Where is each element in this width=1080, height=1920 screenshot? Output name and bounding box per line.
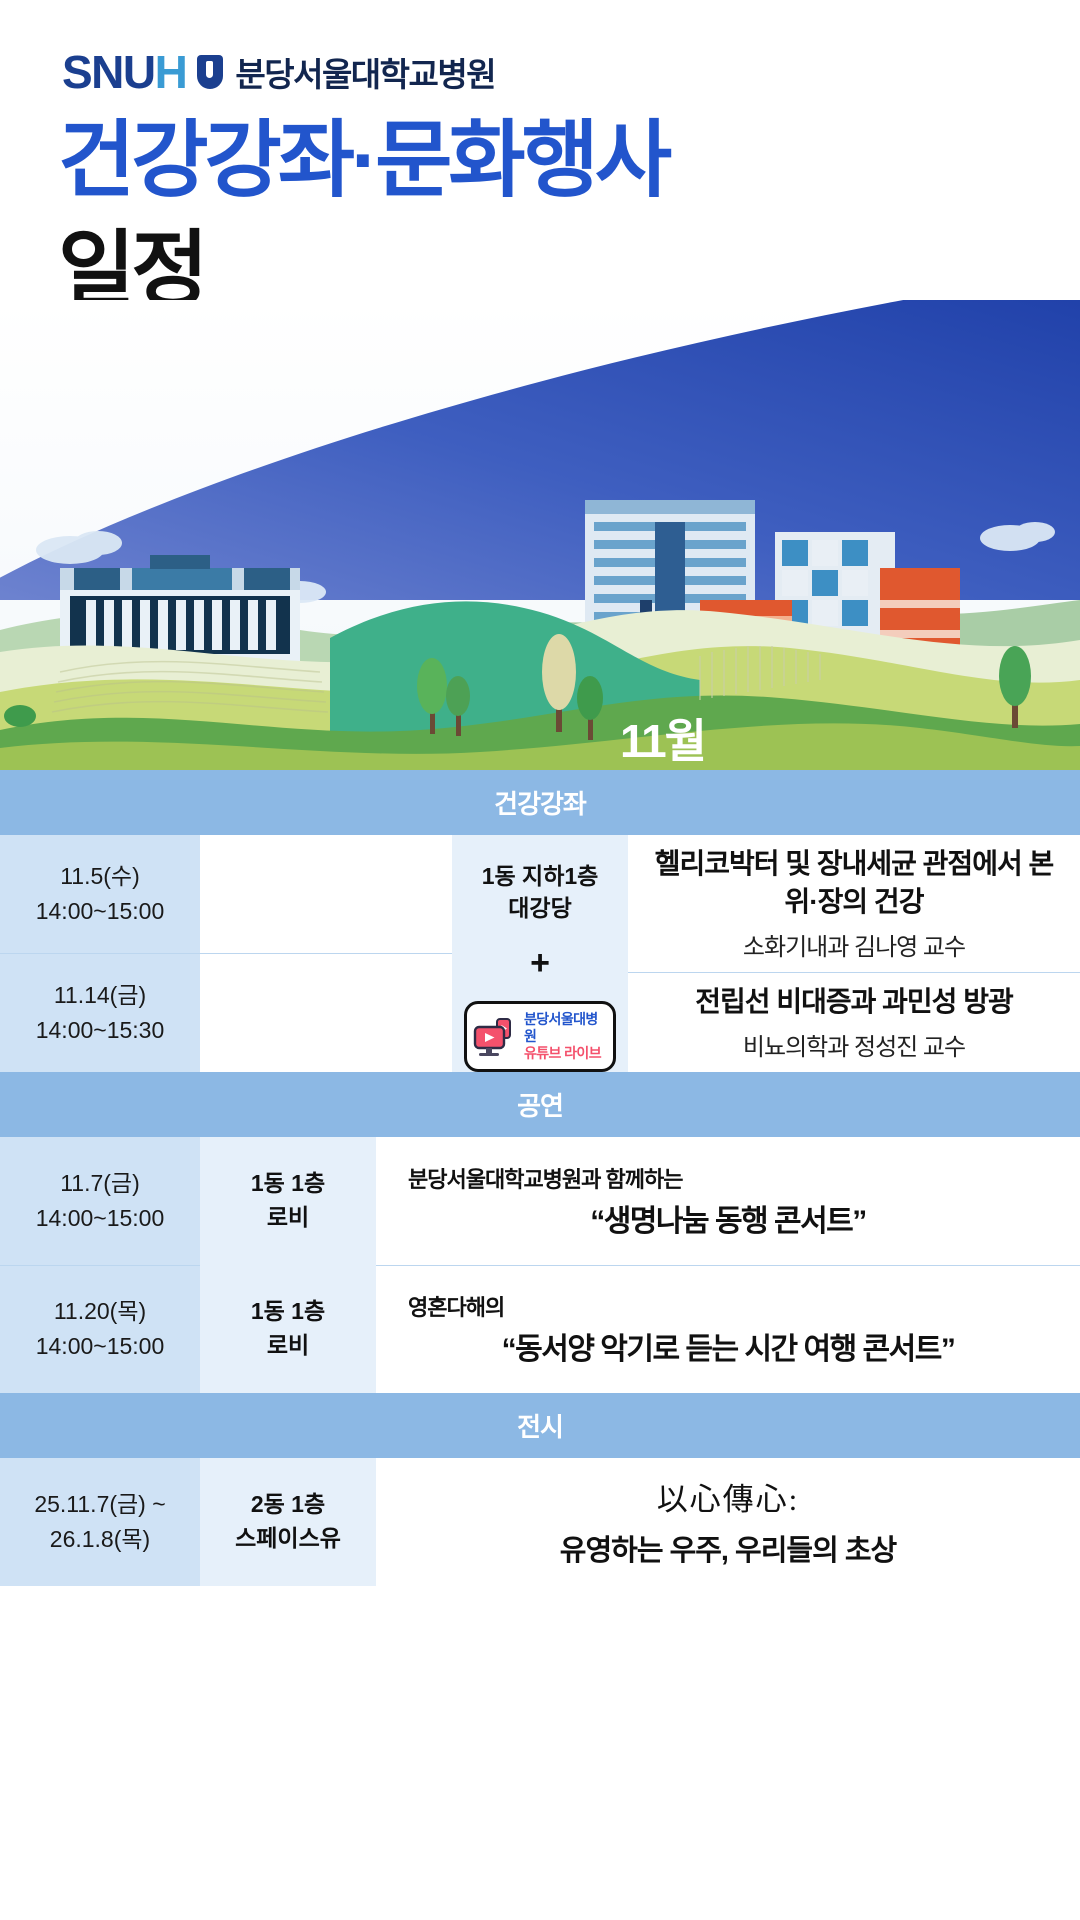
row-place: 1동 1층 로비 [200,1137,376,1265]
date-line-2: 26.1.8(목) [50,1524,150,1555]
row-title: 분당서울대학교병원과 함께하는 “생명나눔 동행 콘서트” [376,1137,1080,1265]
table-row: 11.14(금) 14:00~15:30 [0,953,452,1072]
date-line-1: 11.20(목) [54,1296,146,1327]
row-date: 11.20(목) 14:00~15:00 [0,1265,200,1393]
row-place: 1동 1층 로비 [200,1265,376,1393]
date-line-1: 11.7(금) [60,1168,140,1199]
date-line-1: 25.11.7(금) ~ [34,1489,165,1520]
place-line-1: 1동 1층 [251,1168,325,1199]
snuh-wordmark: SNUH [62,49,186,95]
speaker: 비뇨의학과 정성진 교수 [743,1027,965,1062]
place-line-2: 로비 [267,1202,309,1233]
date-line-2: 14:00~15:30 [36,1015,165,1046]
title-prefix: 분당서울대학교병원과 함께하는 [408,1162,682,1194]
plus-sign: + [530,944,550,983]
title-prefix: 영혼다해의 [408,1290,504,1322]
date-line-2: 14:00~15:00 [36,1331,165,1362]
title-line-1: 전립선 비대증과 과민성 방광 [695,983,1012,1021]
month-badge: 11월 [620,705,705,770]
place-line-2: 스페이스유 [235,1523,341,1554]
section-header-performance: 공연 [0,1072,1080,1137]
row-date: 25.11.7(금) ~ 26.1.8(목) [0,1458,200,1586]
place-line-1: 2동 1층 [251,1489,325,1520]
youtube-live-badge[interactable]: 분당서울대병원 유튜브 라이브 [464,1001,616,1071]
badge-label-hospital: 분당서울대병원 [524,1011,607,1045]
date-line-2: 14:00~15:00 [36,1203,165,1234]
title-quote: “생명나눔 동행 콘서트” [590,1196,866,1240]
section-header-exhibition: 전시 [0,1393,1080,1458]
title-quote: “동서양 악기로 듣는 시간 여행 콘서트” [502,1324,955,1368]
table-row: 헬리코박터 및 장내세균 관점에서 본 위·장의 건강 소화기내과 김나영 교수 [628,835,1080,972]
speaker: 소화기내과 김나영 교수 [743,927,965,962]
row-date: 11.14(금) 14:00~15:30 [0,954,200,1072]
shield-icon [197,55,223,89]
section-header-lecture: 건강강좌 [0,770,1080,835]
table-row: 11.5(수) 14:00~15:00 [0,835,452,953]
table-row: 전립선 비대증과 과민성 방광 비뇨의학과 정성진 교수 [628,972,1080,1072]
row-place-merged: 1동 지하1층 대강당 + 분당서울대병원 유튜브 [452,835,628,1072]
date-line-1: 11.5(수) [60,861,140,892]
date-line-1: 11.14(금) [54,980,146,1011]
exhibition-title-cn: 以心傳心: [657,1474,800,1519]
hero-illustration: 11월 [0,300,1080,770]
row-title: 以心傳心: 유영하는 우주, 우리들의 초상 [376,1458,1080,1586]
row-title: 전립선 비대증과 과민성 방광 비뇨의학과 정성진 교수 [628,973,1080,1072]
exhibition-title-kr: 유영하는 우주, 우리들의 초상 [560,1527,896,1569]
youtube-live-icon [473,1017,519,1057]
title-line-1: 헬리코박터 및 장내세균 관점에서 본 [655,845,1054,883]
row-date: 11.7(금) 14:00~15:00 [0,1137,200,1265]
row-place: 2동 1층 스페이스유 [200,1458,376,1586]
table-row: 11.7(금) 14:00~15:00 1동 1층 로비 분당서울대학교병원과 … [0,1137,1080,1265]
row-date: 11.5(수) 14:00~15:00 [0,835,200,953]
page-title-line1: 건강강좌·문화행사 [58,118,668,202]
row-title: 헬리코박터 및 장내세균 관점에서 본 위·장의 건강 소화기내과 김나영 교수 [628,835,1080,972]
schedule-table: 건강강좌 11.5(수) 14:00~15:00 11.14(금) 14:00~… [0,770,1080,1586]
row-title: 영혼다해의 “동서양 악기로 듣는 시간 여행 콘서트” [376,1265,1080,1393]
lecture-block: 11.5(수) 14:00~15:00 11.14(금) 14:00~15:30… [0,835,1080,1072]
place-line-1: 1동 1층 [251,1296,325,1327]
place-line-2: 대강당 [482,893,599,925]
brand-logo: SNUH 분당서울대학교병원 [62,48,495,96]
badge-label-live: 유튜브 라이브 [524,1045,601,1062]
date-line-2: 14:00~15:00 [36,896,165,927]
table-row: 11.20(목) 14:00~15:00 1동 1층 로비 영혼다해의 “동서양… [0,1265,1080,1393]
hospital-name: 분당서울대학교병원 [235,48,495,96]
table-row: 25.11.7(금) ~ 26.1.8(목) 2동 1층 스페이스유 以心傳心:… [0,1458,1080,1586]
place-line-2: 로비 [267,1330,309,1361]
place-line-1: 1동 지하1층 [482,861,599,893]
title-line-2: 위·장의 건강 [785,883,924,921]
